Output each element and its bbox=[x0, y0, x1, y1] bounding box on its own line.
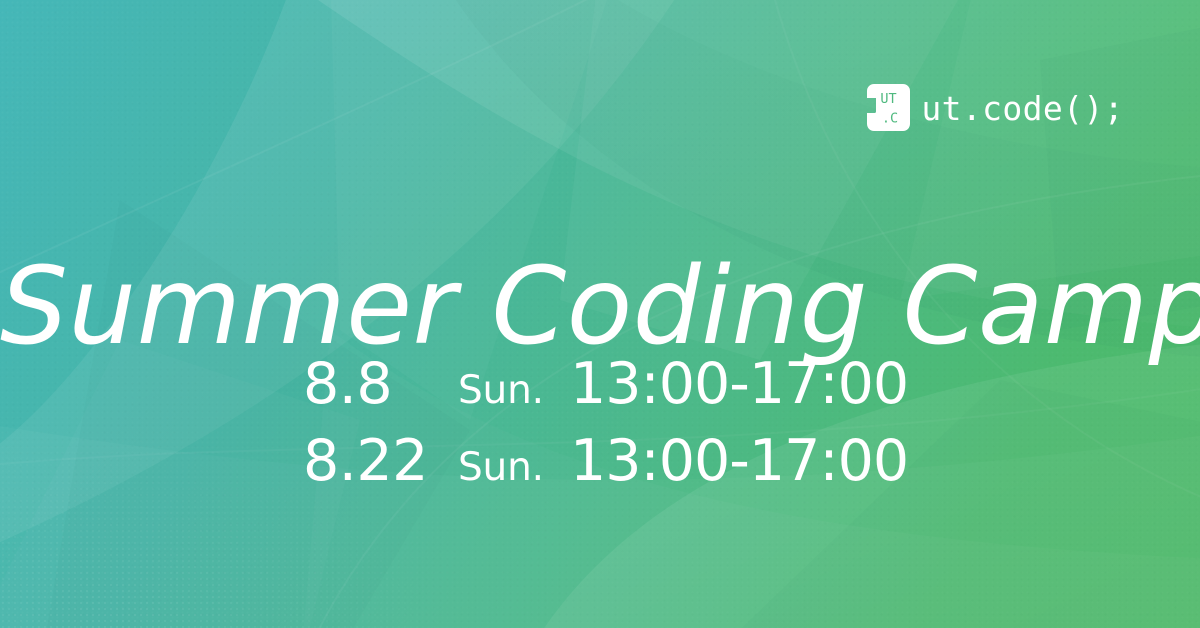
schedule-row: 8.22 Sun. 13:00-17:00 bbox=[303, 433, 908, 510]
utcode-logo-glyph: UT .C bbox=[867, 84, 910, 131]
schedule-date: 8.22 bbox=[303, 433, 458, 490]
schedule-time: 13:00-17:00 bbox=[570, 356, 908, 413]
brand-logo[interactable]: UT .C ut.code(); bbox=[867, 84, 1124, 131]
schedule-time: 13:00-17:00 bbox=[570, 433, 908, 490]
schedule-weekday: Sun. bbox=[458, 448, 570, 487]
schedule-list: 8.8 Sun. 13:00-17:00 8.22 Sun. 13:00-17:… bbox=[303, 356, 908, 510]
schedule-row: 8.8 Sun. 13:00-17:00 bbox=[303, 356, 908, 433]
event-banner: UT .C ut.code(); Summer Coding Camp 8.8 … bbox=[0, 0, 1200, 628]
schedule-date: 8.8 bbox=[303, 356, 458, 413]
svg-text:UT: UT bbox=[881, 91, 897, 107]
utcode-logo-icon: UT .C bbox=[867, 84, 910, 131]
svg-text:.C: .C bbox=[882, 111, 898, 127]
page-title: Summer Coding Camp bbox=[0, 254, 1200, 361]
brand-wordmark: ut.code(); bbox=[921, 92, 1124, 125]
schedule-weekday: Sun. bbox=[458, 371, 570, 410]
